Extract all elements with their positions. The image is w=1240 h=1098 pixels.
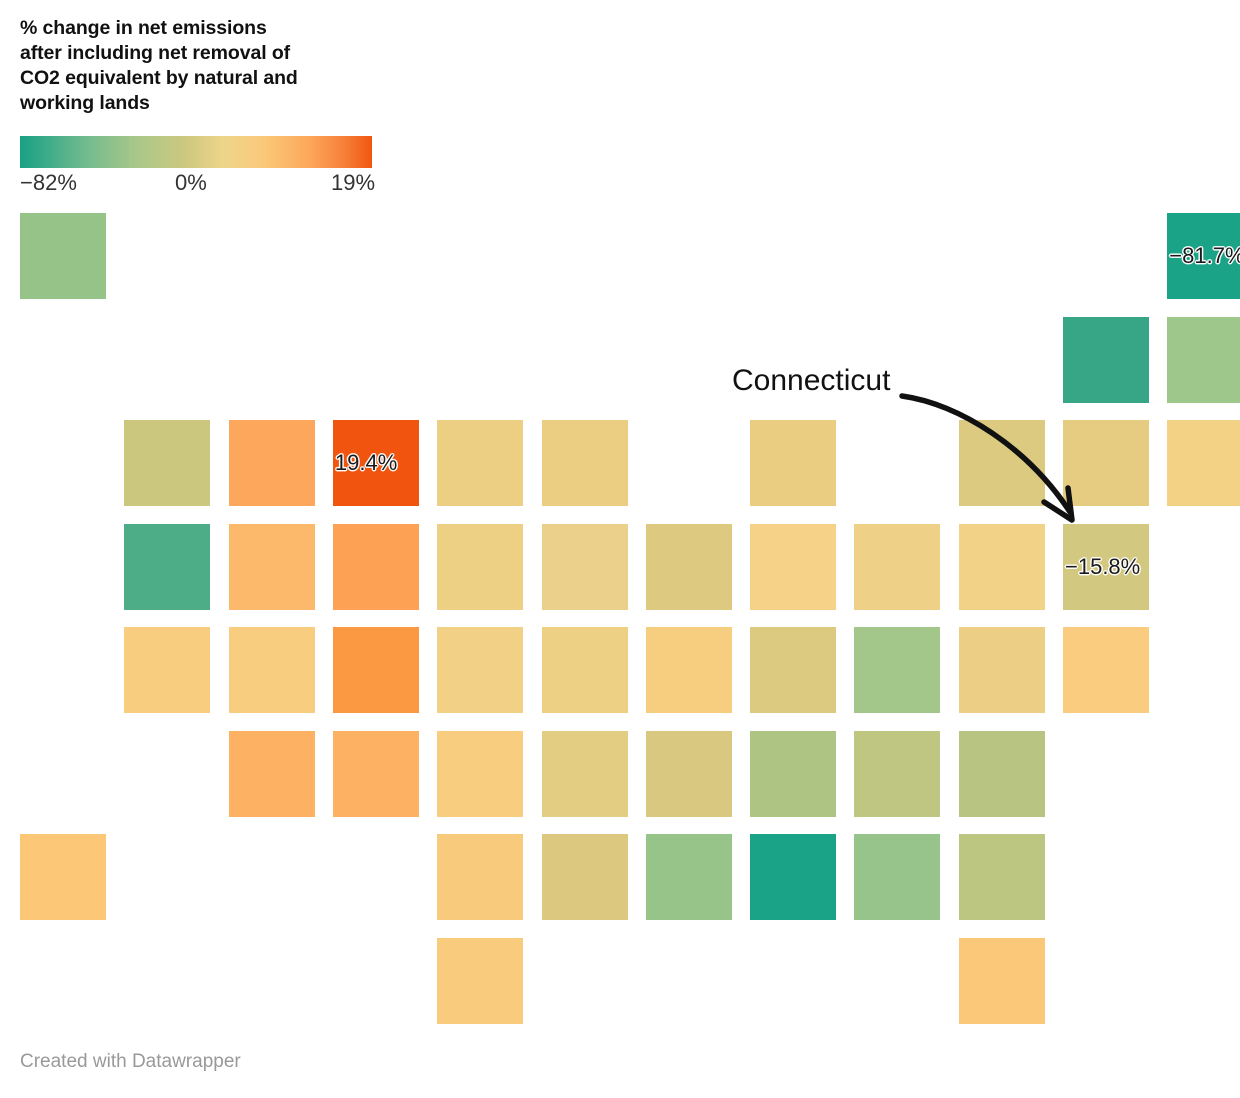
state-tile-nv[interactable] bbox=[229, 524, 315, 610]
state-tile-mt[interactable] bbox=[333, 420, 419, 506]
state-tile-ne[interactable] bbox=[437, 627, 523, 713]
state-tile-ri[interactable] bbox=[1167, 420, 1240, 506]
state-tile-md[interactable] bbox=[959, 627, 1045, 713]
state-tile-tn[interactable] bbox=[646, 731, 732, 817]
state-tile-id[interactable] bbox=[229, 420, 315, 506]
footer-credit: Created with Datawrapper bbox=[20, 1051, 241, 1073]
state-tile-mn[interactable] bbox=[542, 420, 628, 506]
state-tile-ms[interactable] bbox=[646, 834, 732, 920]
state-tile-de[interactable] bbox=[1063, 627, 1149, 713]
state-tile-wi[interactable] bbox=[646, 524, 732, 610]
state-tile-mo[interactable] bbox=[542, 627, 628, 713]
state-tile-ok[interactable] bbox=[437, 834, 523, 920]
state-tile-ca[interactable] bbox=[124, 627, 210, 713]
state-tile-or[interactable] bbox=[124, 524, 210, 610]
state-tile-nh[interactable] bbox=[1167, 317, 1240, 403]
state-tile-ak[interactable] bbox=[20, 213, 106, 299]
state-tile-ia[interactable] bbox=[542, 524, 628, 610]
state-tile-me[interactable] bbox=[1167, 213, 1240, 299]
annotation-arrow-icon bbox=[900, 390, 1100, 540]
state-tile-nc[interactable] bbox=[750, 731, 836, 817]
state-tile-sc[interactable] bbox=[854, 731, 940, 817]
state-tile-al[interactable] bbox=[750, 834, 836, 920]
footer-divider bbox=[20, 1032, 1220, 1033]
state-tile-va[interactable] bbox=[854, 627, 940, 713]
state-tile-wa[interactable] bbox=[124, 420, 210, 506]
state-tile-la[interactable] bbox=[542, 834, 628, 920]
state-tile-dc[interactable] bbox=[959, 731, 1045, 817]
state-tile-nm[interactable] bbox=[333, 731, 419, 817]
state-tile-ut[interactable] bbox=[229, 627, 315, 713]
state-tile-ks[interactable] bbox=[437, 731, 523, 817]
state-tile-co[interactable] bbox=[333, 627, 419, 713]
state-tile-nd[interactable] bbox=[437, 420, 523, 506]
state-tile-pr[interactable] bbox=[959, 938, 1045, 1024]
state-tile-hi[interactable] bbox=[20, 834, 106, 920]
state-tile-ga[interactable] bbox=[854, 834, 940, 920]
state-tile-fl[interactable] bbox=[959, 834, 1045, 920]
state-tile-il[interactable] bbox=[750, 524, 836, 610]
state-tile-wy[interactable] bbox=[333, 524, 419, 610]
state-tile-sd[interactable] bbox=[437, 524, 523, 610]
annotation-label-connecticut: Connecticut bbox=[732, 364, 890, 398]
state-tile-wv[interactable] bbox=[750, 627, 836, 713]
state-tile-az[interactable] bbox=[229, 731, 315, 817]
state-tile-ar[interactable] bbox=[542, 731, 628, 817]
state-tile-mi[interactable] bbox=[750, 420, 836, 506]
state-tile-tx[interactable] bbox=[437, 938, 523, 1024]
state-tile-ky[interactable] bbox=[646, 627, 732, 713]
